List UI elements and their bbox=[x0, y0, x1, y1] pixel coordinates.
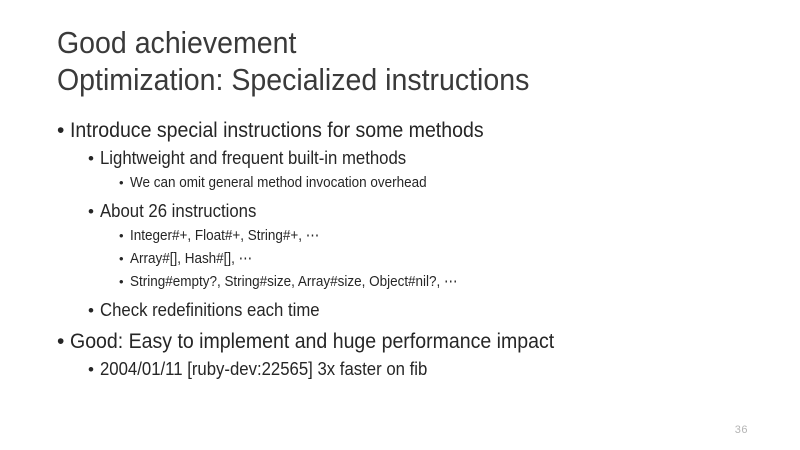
bullet-item-level-2: •About 26 instructions bbox=[88, 198, 777, 224]
bullet-text: String#empty?, String#size, Array#size, … bbox=[130, 271, 458, 294]
page-number: 36 bbox=[735, 424, 748, 436]
bullet-mark-icon: • bbox=[57, 116, 70, 145]
bullet-text: We can omit general method invocation ov… bbox=[130, 172, 427, 195]
bullet-text: Lightweight and frequent built-in method… bbox=[100, 145, 406, 171]
bullet-item-level-1: •Introduce special instructions for some… bbox=[57, 116, 777, 145]
title-line-1: Good achievement bbox=[57, 24, 701, 61]
bullet-mark-icon: • bbox=[88, 146, 100, 172]
bullet-mark-icon: • bbox=[88, 298, 100, 324]
bullet-item-level-2: •Lightweight and frequent built-in metho… bbox=[88, 145, 777, 171]
bullet-item-level-2: •2004/01/11 [ruby-dev:22565] 3x faster o… bbox=[88, 356, 777, 382]
bullet-mark-icon: • bbox=[119, 171, 130, 194]
slide-body: •Introduce special instructions for some… bbox=[57, 116, 777, 382]
slide-title: Good achievement Optimization: Specializ… bbox=[57, 24, 757, 98]
bullet-text: Array#[], Hash#[], ⋯ bbox=[130, 248, 252, 271]
bullet-text: Integer#+, Float#+, String#+, ⋯ bbox=[130, 225, 319, 248]
bullet-mark-icon: • bbox=[57, 327, 70, 356]
bullet-mark-icon: • bbox=[119, 224, 130, 247]
bullet-mark-icon: • bbox=[119, 247, 130, 270]
bullet-text: Good: Easy to implement and huge perform… bbox=[70, 327, 554, 356]
title-line-2: Optimization: Specialized instructions bbox=[57, 61, 701, 98]
bullet-item-level-2: •Check redefinitions each time bbox=[88, 297, 777, 323]
bullet-item-level-3: •Integer#+, Float#+, String#+, ⋯ bbox=[119, 224, 777, 247]
bullet-text: About 26 instructions bbox=[100, 198, 256, 224]
slide-canvas: Good achievement Optimization: Specializ… bbox=[0, 0, 800, 450]
bullet-mark-icon: • bbox=[88, 199, 100, 225]
bullet-text: Introduce special instructions for some … bbox=[70, 116, 484, 145]
bullet-mark-icon: • bbox=[119, 270, 130, 293]
bullet-text: 2004/01/11 [ruby-dev:22565] 3x faster on… bbox=[100, 356, 427, 382]
bullet-item-level-3: •String#empty?, String#size, Array#size,… bbox=[119, 270, 777, 293]
bullet-text: Check redefinitions each time bbox=[100, 297, 320, 323]
bullet-mark-icon: • bbox=[88, 357, 100, 383]
bullet-item-level-3: •We can omit general method invocation o… bbox=[119, 171, 777, 194]
bullet-item-level-3: •Array#[], Hash#[], ⋯ bbox=[119, 247, 777, 270]
bullet-item-level-1: •Good: Easy to implement and huge perfor… bbox=[57, 327, 777, 356]
